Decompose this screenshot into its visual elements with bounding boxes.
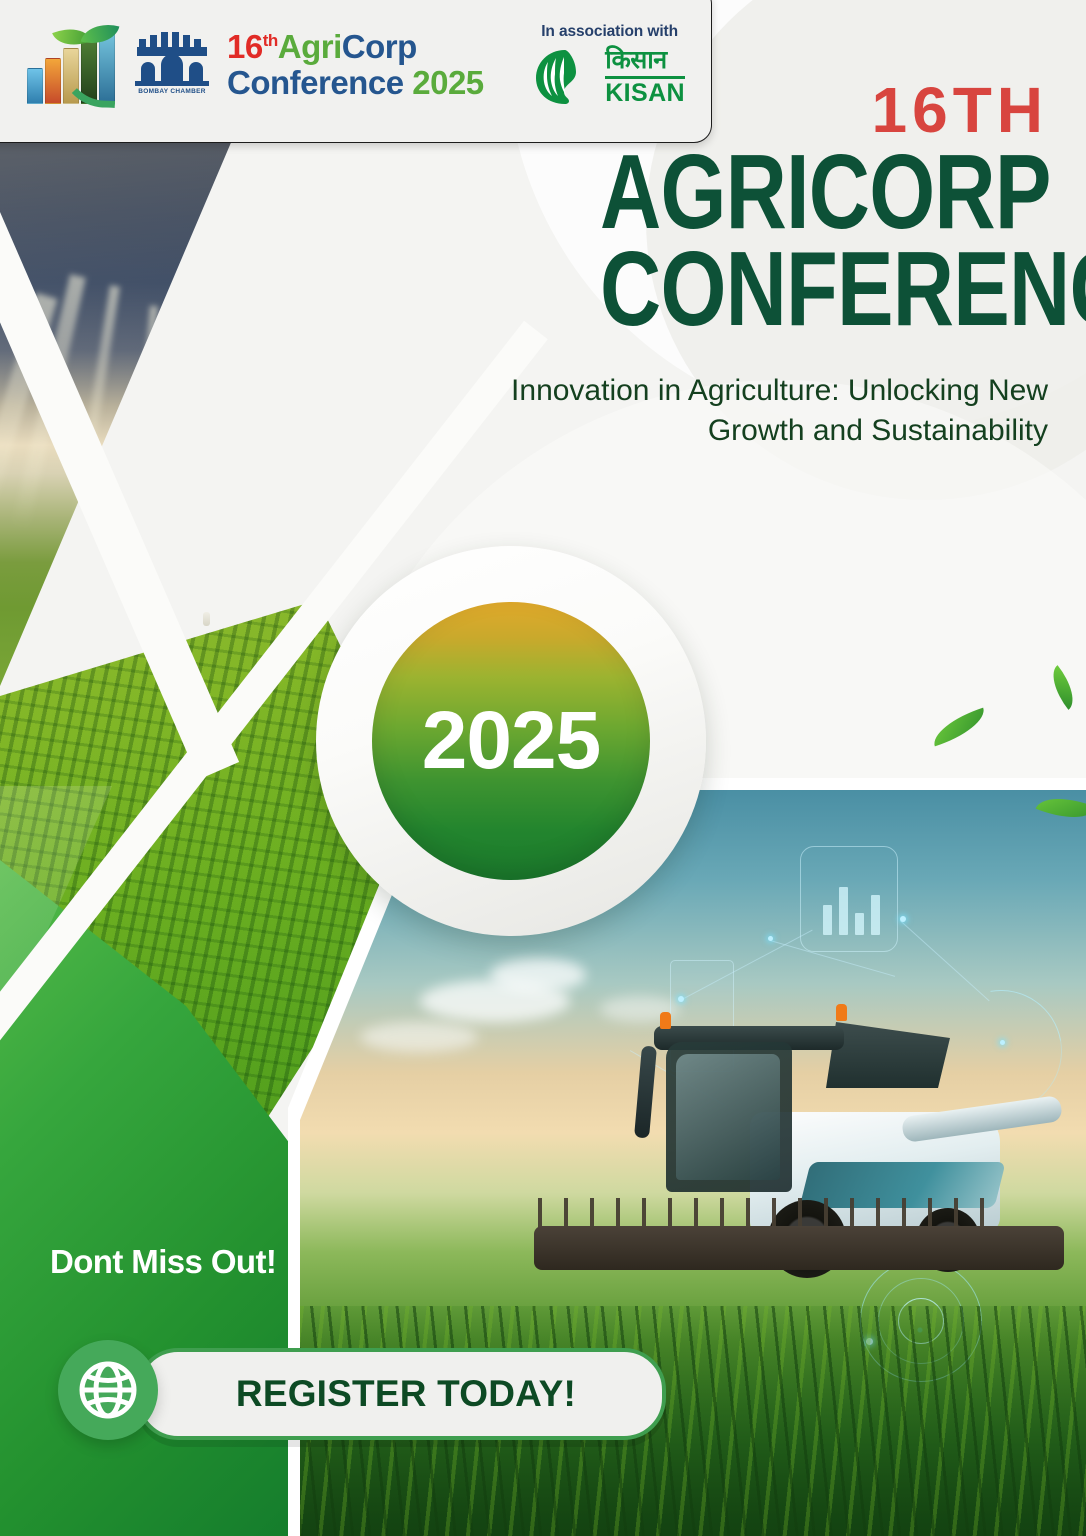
title-line-2: CONFERENCE	[600, 243, 1048, 336]
bombay-chamber-gateway-icon: BOMBAY CHAMBER	[133, 29, 211, 101]
logo-year: 2025	[412, 64, 483, 101]
association-block: In association with किसान KISAN	[534, 23, 685, 106]
logo-corp: Corp	[342, 28, 417, 65]
poster-root: 2025 16TH AGRICORP CONFERENCE Innovation…	[0, 0, 1086, 1536]
page-title: AGRICORP CONFERENCE	[600, 146, 1048, 337]
logo-agri: Agri	[278, 28, 342, 65]
combine-harvester	[630, 990, 1050, 1320]
header-logo-bar: BOMBAY CHAMBER 16thAgriCorp Conference 2…	[0, 0, 712, 143]
register-button-label: REGISTER TODAY!	[236, 1373, 576, 1415]
year-badge: 2025	[372, 602, 650, 880]
teaser-text: Dont Miss Out!	[50, 1243, 276, 1281]
register-cta[interactable]: REGISTER TODAY!	[58, 1352, 666, 1436]
chamber-caption: BOMBAY CHAMBER	[133, 88, 211, 95]
kisan-english-name: KISAN	[605, 81, 685, 106]
year-badge-label: 2025	[422, 700, 600, 782]
agri-sprout-chart-icon	[27, 22, 123, 108]
association-label: In association with	[534, 23, 685, 41]
leaf-icon	[928, 708, 990, 747]
logo-edition-ordinal: th	[263, 31, 278, 50]
register-button[interactable]: REGISTER TODAY!	[136, 1348, 666, 1440]
subtitle: Innovation in Agriculture: Unlocking New…	[488, 371, 1048, 452]
farmer-figure	[203, 612, 210, 626]
conference-logo-type: 16thAgriCorp Conference 2025	[227, 30, 484, 99]
hud-chart-icon	[800, 846, 898, 952]
kisan-hindi-name: किसान	[605, 48, 685, 73]
logo-edition-number: 16	[227, 28, 263, 65]
sprout-icon	[53, 20, 119, 104]
globe-icon[interactable]	[58, 1340, 158, 1440]
logo-conference: Conference	[227, 64, 404, 101]
conference-logo: BOMBAY CHAMBER 16thAgriCorp Conference 2…	[27, 22, 484, 108]
kisan-logo-icon	[534, 48, 596, 106]
leaf-icon	[1043, 665, 1084, 710]
